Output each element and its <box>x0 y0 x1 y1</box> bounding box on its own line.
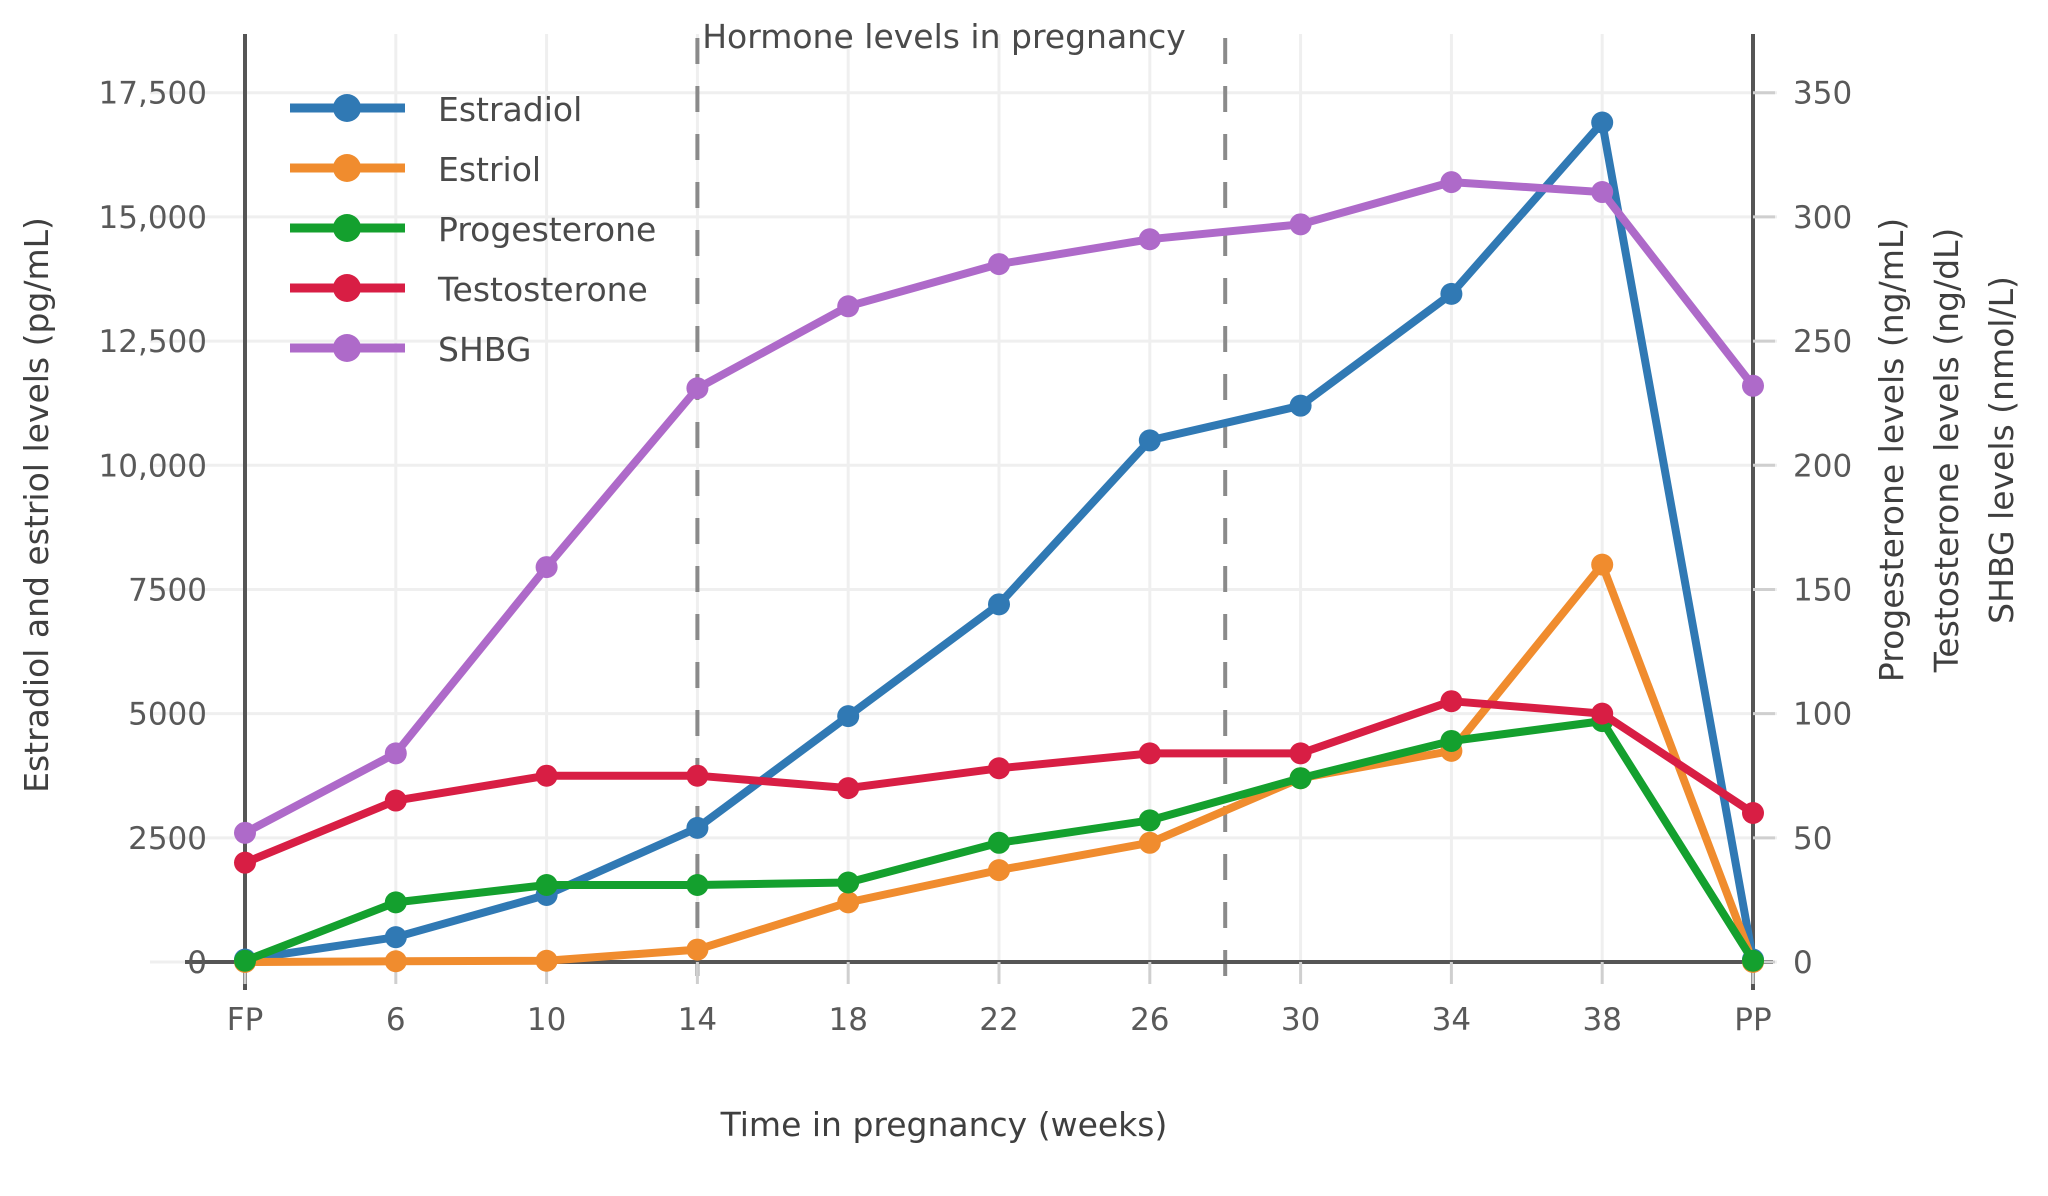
y-axis-right-tick-label: 100 <box>1793 697 1852 733</box>
data-point-estriol <box>837 891 859 913</box>
data-point-shbg <box>988 253 1010 275</box>
data-point-shbg <box>1742 375 1764 397</box>
legend-label-progesterone: Progesterone <box>438 210 656 249</box>
y-axis-left-title: Estradiol and estriol levels (pg/mL) <box>17 217 56 793</box>
y-axis-left-tick-label: 12,500 <box>99 324 207 360</box>
data-point-progesterone <box>536 874 558 896</box>
y-axis-left-tick-label: 10,000 <box>99 448 207 484</box>
hormone-levels-line-chart: 025005000750010,00012,50015,00017,500050… <box>0 0 2048 1196</box>
y-axis-right-tick-label: 250 <box>1793 324 1852 360</box>
y-axis-left-tick-label: 17,500 <box>99 76 207 112</box>
data-point-testosterone <box>686 765 708 787</box>
legend-swatch-marker-estradiol <box>333 94 361 122</box>
data-point-shbg <box>385 742 407 764</box>
y-axis-right-title-testosterone: Testosterone levels (ng/dL) <box>1927 228 1966 674</box>
y-axis-left-tick-label: 0 <box>187 945 207 981</box>
data-point-estradiol <box>1440 283 1462 305</box>
data-point-testosterone <box>234 852 256 874</box>
data-point-shbg <box>234 822 256 844</box>
data-point-progesterone <box>385 891 407 913</box>
data-point-testosterone <box>1290 742 1312 764</box>
y-axis-right-tick-label: 300 <box>1793 200 1852 236</box>
legend-label-testosterone: Testosterone <box>437 270 648 309</box>
data-point-estriol <box>1591 554 1613 576</box>
x-axis-tick-label: FP <box>227 1002 264 1038</box>
legend-label-shbg: SHBG <box>438 330 531 369</box>
y-axis-left-tick-label: 5000 <box>128 697 207 733</box>
legend-swatch-marker-shbg <box>333 334 361 362</box>
y-axis-left-tick-label: 2500 <box>128 821 207 857</box>
data-point-estradiol <box>1139 429 1161 451</box>
x-axis-tick-label: 30 <box>1281 1002 1320 1038</box>
data-point-shbg <box>1440 171 1462 193</box>
data-point-shbg <box>837 295 859 317</box>
x-axis-tick-label: 6 <box>386 1002 406 1038</box>
x-axis-tick-label: 18 <box>828 1002 867 1038</box>
y-axis-left-tick-label: 15,000 <box>99 200 207 236</box>
data-point-progesterone <box>1742 950 1764 972</box>
data-point-progesterone <box>988 832 1010 854</box>
data-point-estriol <box>385 950 407 972</box>
x-axis-tick-label: 14 <box>678 1002 717 1038</box>
data-point-progesterone <box>837 872 859 894</box>
data-point-progesterone <box>1139 809 1161 831</box>
data-point-shbg <box>1591 181 1613 203</box>
data-point-progesterone <box>234 950 256 972</box>
data-point-estriol <box>988 859 1010 881</box>
y-axis-right-title-progesterone: Progesterone levels (ng/mL) <box>1872 218 1911 682</box>
data-point-estradiol <box>1290 395 1312 417</box>
data-point-testosterone <box>1139 742 1161 764</box>
x-axis-tick-label: 26 <box>1130 1002 1169 1038</box>
data-point-progesterone <box>686 874 708 896</box>
chart-root: 025005000750010,00012,50015,00017,500050… <box>0 0 2048 1196</box>
y-axis-left-tick-label: 7500 <box>128 572 207 608</box>
legend-label-estradiol: Estradiol <box>438 90 582 129</box>
data-point-progesterone <box>1290 767 1312 789</box>
x-axis-tick-label: 34 <box>1432 1002 1471 1038</box>
data-point-shbg <box>1290 213 1312 235</box>
y-axis-right-tick-label: 350 <box>1793 76 1852 112</box>
data-point-testosterone <box>536 765 558 787</box>
x-axis-title: Time in pregnancy (weeks) <box>720 1105 1168 1144</box>
data-point-shbg <box>686 377 708 399</box>
legend-swatch-marker-testosterone <box>333 274 361 302</box>
data-point-estriol <box>1139 832 1161 854</box>
x-axis-tick-label: 38 <box>1582 1002 1621 1038</box>
data-point-estriol <box>536 950 558 972</box>
y-axis-right-tick-label: 200 <box>1793 448 1852 484</box>
y-axis-right-tick-label: 50 <box>1793 821 1832 857</box>
y-axis-right-title-shbg: SHBG levels (nmol/L) <box>1982 276 2021 624</box>
data-point-estradiol <box>837 705 859 727</box>
data-point-testosterone <box>837 777 859 799</box>
x-axis-tick-label: 22 <box>979 1002 1018 1038</box>
legend-label-estriol: Estriol <box>438 150 541 189</box>
data-point-shbg <box>1139 228 1161 250</box>
data-point-progesterone <box>1440 730 1462 752</box>
legend-swatch-marker-progesterone <box>333 214 361 242</box>
legend-swatch-marker-estriol <box>333 154 361 182</box>
data-point-estradiol <box>1591 112 1613 134</box>
x-axis-tick-label: 10 <box>527 1002 566 1038</box>
data-point-testosterone <box>988 757 1010 779</box>
data-point-testosterone <box>1440 690 1462 712</box>
data-point-estradiol <box>988 593 1010 615</box>
data-point-testosterone <box>385 790 407 812</box>
data-point-estradiol <box>385 926 407 948</box>
data-point-shbg <box>536 556 558 578</box>
data-point-estriol <box>686 939 708 961</box>
data-point-testosterone <box>1742 802 1764 824</box>
x-axis-tick-label: PP <box>1734 1002 1771 1038</box>
data-point-testosterone <box>1591 703 1613 725</box>
chart-title: Hormone levels in pregnancy <box>702 17 1186 56</box>
data-point-estradiol <box>686 817 708 839</box>
y-axis-right-tick-label: 150 <box>1793 572 1852 608</box>
y-axis-right-tick-label: 0 <box>1793 945 1813 981</box>
